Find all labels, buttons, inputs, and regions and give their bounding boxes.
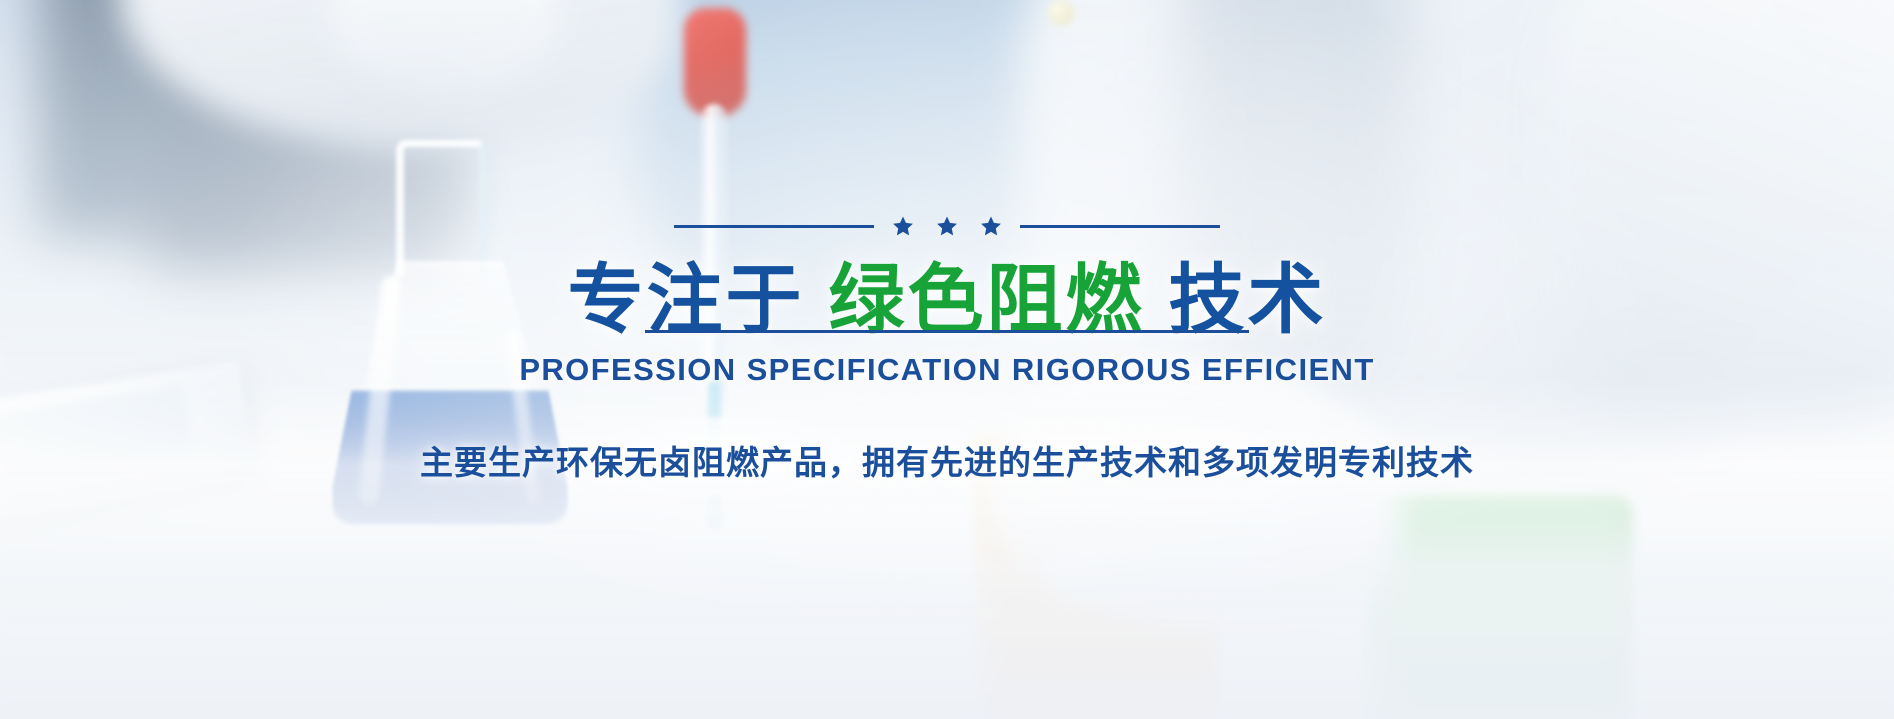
star-icon — [892, 215, 914, 237]
banner-subtitle-english: PROFESSION SPECIFICATION RIGOROUS EFFICI… — [519, 352, 1374, 388]
hero-banner: 专注于绿色阻燃技术 PROFESSION SPECIFICATION RIGOR… — [0, 0, 1894, 719]
banner-subtitle-chinese: 主要生产环保无卤阻燃产品，拥有先进的生产技术和多项发明专利技术 — [420, 436, 1474, 484]
star-icon — [936, 215, 958, 237]
banner-headline: 专注于绿色阻燃技术 — [568, 250, 1327, 353]
star-group — [892, 215, 1002, 237]
decorative-rule-left — [674, 225, 874, 228]
decorative-rule-row — [667, 215, 1227, 237]
star-icon — [980, 215, 1002, 237]
decorative-rule-right — [1020, 225, 1220, 228]
headline-underline-rule — [645, 330, 1249, 333]
banner-content: 专注于绿色阻燃技术 PROFESSION SPECIFICATION RIGOR… — [0, 0, 1894, 719]
